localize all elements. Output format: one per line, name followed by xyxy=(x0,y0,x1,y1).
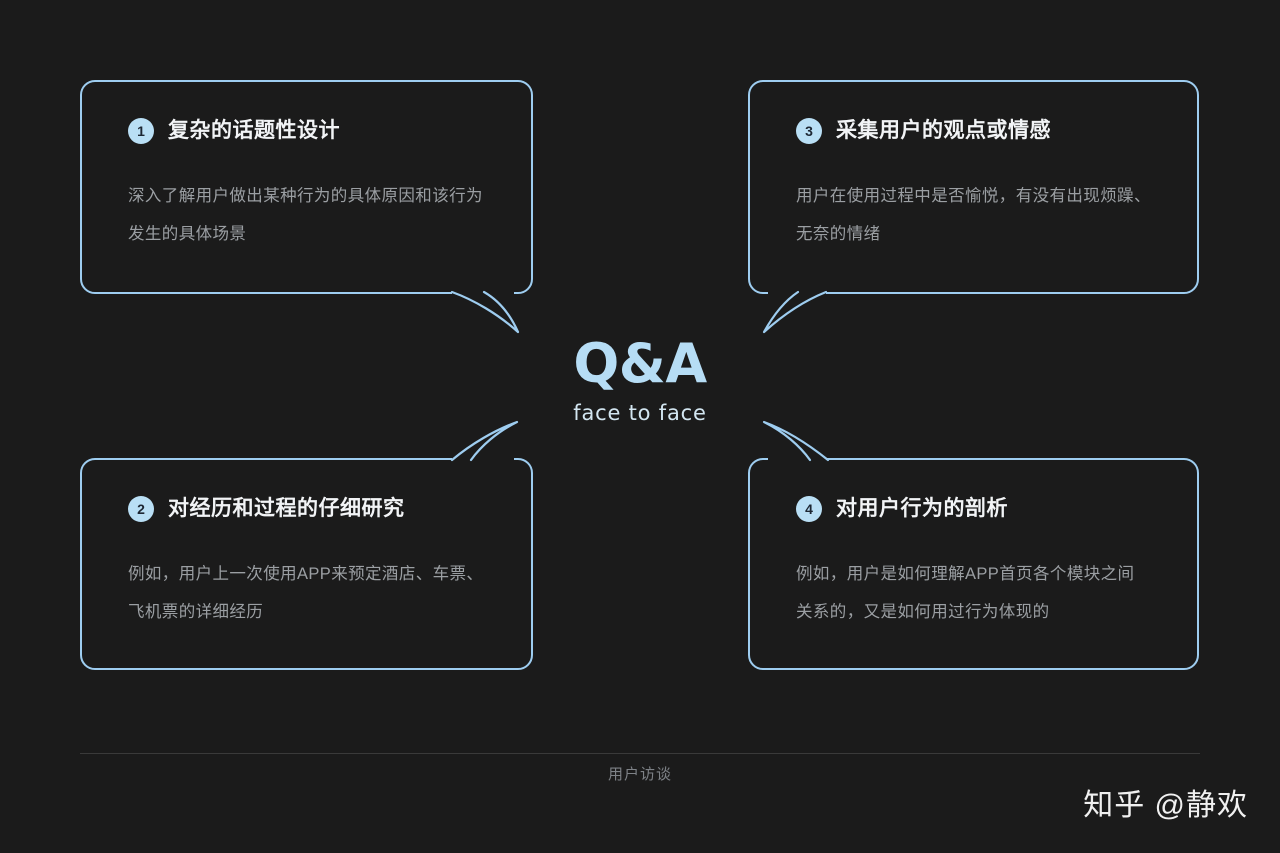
center-label-group: Q&A face to face xyxy=(0,336,1280,425)
speech-card-3: 3 采集用户的观点或情感 用户在使用过程中是否愉悦，有没有出现烦躁、无奈的情绪 xyxy=(748,80,1199,294)
speech-card-2: 2 对经历和过程的仔细研究 例如，用户上一次使用APP来预定酒店、车票、飞机票的… xyxy=(80,458,533,670)
card-1-body: 深入了解用户做出某种行为的具体原因和该行为发生的具体场景 xyxy=(128,178,485,253)
qa-title: Q&A xyxy=(0,336,1280,393)
card-4-number-badge: 4 xyxy=(796,496,822,522)
qa-subtitle: face to face xyxy=(0,401,1280,425)
card-1-header: 1 复杂的话题性设计 xyxy=(128,118,485,144)
card-3-title: 采集用户的观点或情感 xyxy=(836,118,1051,143)
card-1-number-badge: 1 xyxy=(128,118,154,144)
card-3-body: 用户在使用过程中是否愉悦，有没有出现烦躁、无奈的情绪 xyxy=(796,178,1151,253)
card-1-content: 1 复杂的话题性设计 深入了解用户做出某种行为的具体原因和该行为发生的具体场景 xyxy=(82,82,531,253)
card-2-body: 例如，用户上一次使用APP来预定酒店、车票、飞机票的详细经历 xyxy=(128,556,485,631)
card-2-content: 2 对经历和过程的仔细研究 例如，用户上一次使用APP来预定酒店、车票、飞机票的… xyxy=(82,460,531,631)
card-2-number-badge: 2 xyxy=(128,496,154,522)
card-3-header: 3 采集用户的观点或情感 xyxy=(796,118,1151,144)
card-4-body: 例如，用户是如何理解APP首页各个模块之间关系的，又是如何用过行为体现的 xyxy=(796,556,1151,631)
slide-canvas: 1 复杂的话题性设计 深入了解用户做出某种行为的具体原因和该行为发生的具体场景 … xyxy=(0,0,1280,853)
footer-divider xyxy=(80,753,1200,754)
card-4-content: 4 对用户行为的剖析 例如，用户是如何理解APP首页各个模块之间关系的，又是如何… xyxy=(750,460,1197,631)
card-4-tail-notch xyxy=(768,455,826,461)
card-3-number-badge: 3 xyxy=(796,118,822,144)
card-4-title: 对用户行为的剖析 xyxy=(836,496,1008,521)
speech-card-4: 4 对用户行为的剖析 例如，用户是如何理解APP首页各个模块之间关系的，又是如何… xyxy=(748,458,1199,670)
card-3-tail-notch xyxy=(768,290,826,296)
card-1-title: 复杂的话题性设计 xyxy=(168,118,340,143)
card-2-tail-notch xyxy=(452,455,514,461)
card-4-header: 4 对用户行为的剖析 xyxy=(796,496,1151,522)
card-2-header: 2 对经历和过程的仔细研究 xyxy=(128,496,485,522)
card-1-tail-notch xyxy=(452,290,514,296)
watermark: 知乎 @静欢 xyxy=(1083,780,1248,824)
card-2-title: 对经历和过程的仔细研究 xyxy=(168,496,405,521)
speech-card-1: 1 复杂的话题性设计 深入了解用户做出某种行为的具体原因和该行为发生的具体场景 xyxy=(80,80,533,294)
card-3-content: 3 采集用户的观点或情感 用户在使用过程中是否愉悦，有没有出现烦躁、无奈的情绪 xyxy=(750,82,1197,253)
